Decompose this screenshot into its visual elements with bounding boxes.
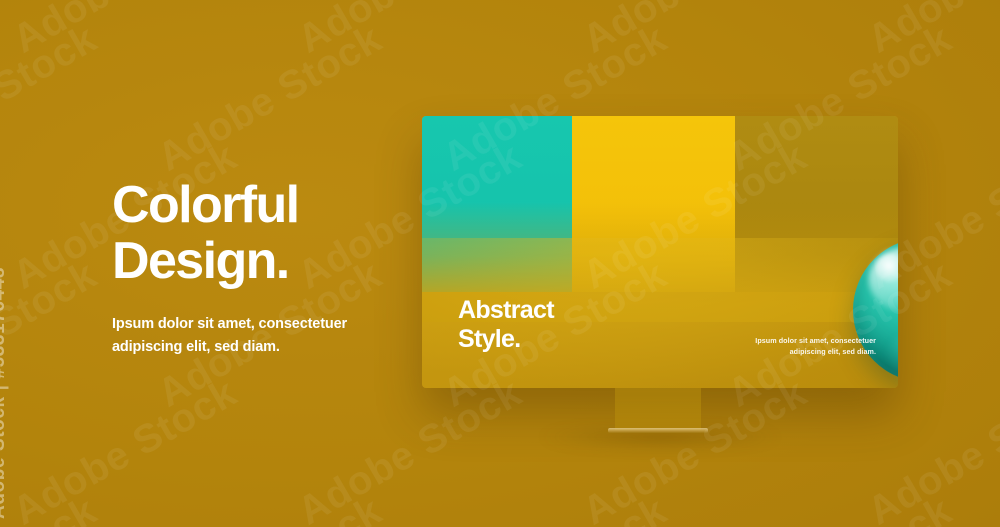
watermark-text: Adobe Stock (290, 371, 529, 527)
subcopy-line-2: adipiscing elit, sed diam. (112, 336, 442, 358)
poster-canvas: Colorful Design. Ipsum dolor sit amet, c… (0, 0, 1000, 527)
headline-line-1: Colorful (112, 178, 442, 234)
watermark-text: Adobe Stock (150, 489, 389, 527)
watermark-text: Adobe Stock (290, 0, 529, 62)
watermark-text: Adobe Stock (0, 253, 104, 417)
watermark-text: Adobe Stock (150, 17, 389, 181)
subcopy-line-1: Ipsum dolor sit amet, consectetuer (112, 313, 442, 335)
screen-caption: Ipsum dolor sit amet, consectetuer adipi… (755, 335, 876, 358)
screen-caption-line-1: Ipsum dolor sit amet, consectetuer (755, 335, 876, 347)
headline-line-2: Design. (112, 234, 442, 290)
sphere-highlight-spot (876, 254, 898, 283)
watermark-text: Adobe Stock (575, 0, 814, 62)
watermark-text: Adobe Stock (860, 371, 1000, 527)
monitor-stand-neck (615, 388, 701, 430)
monitor-stand-base (608, 428, 708, 433)
screen-title-line-2: Style. (458, 325, 554, 354)
page-title: Colorful Design. (112, 178, 442, 289)
screen-title: Abstract Style. (458, 296, 554, 354)
watermark-text: Adobe Stock (0, 17, 104, 181)
screen-caption-line-2: adipiscing elit, sed diam. (755, 346, 876, 358)
stock-attribution: Adobe Stock | #533176448 (0, 267, 10, 519)
subcopy: Ipsum dolor sit amet, consectetuer adipi… (112, 313, 442, 358)
monitor-screen: Abstract Style. Ipsum dolor sit amet, co… (422, 116, 898, 388)
watermark-text: Adobe Stock (720, 489, 959, 527)
watermark-text: Adobe Stock (5, 0, 244, 62)
watermark-text: Adobe Stock (435, 489, 674, 527)
watermark-text: Adobe Stock (5, 371, 244, 527)
watermark-text: Adobe Stock (0, 489, 104, 527)
headline-block: Colorful Design. Ipsum dolor sit amet, c… (112, 178, 442, 358)
screen-title-line-1: Abstract (458, 296, 554, 325)
watermark-text: Adobe Stock (860, 0, 1000, 62)
